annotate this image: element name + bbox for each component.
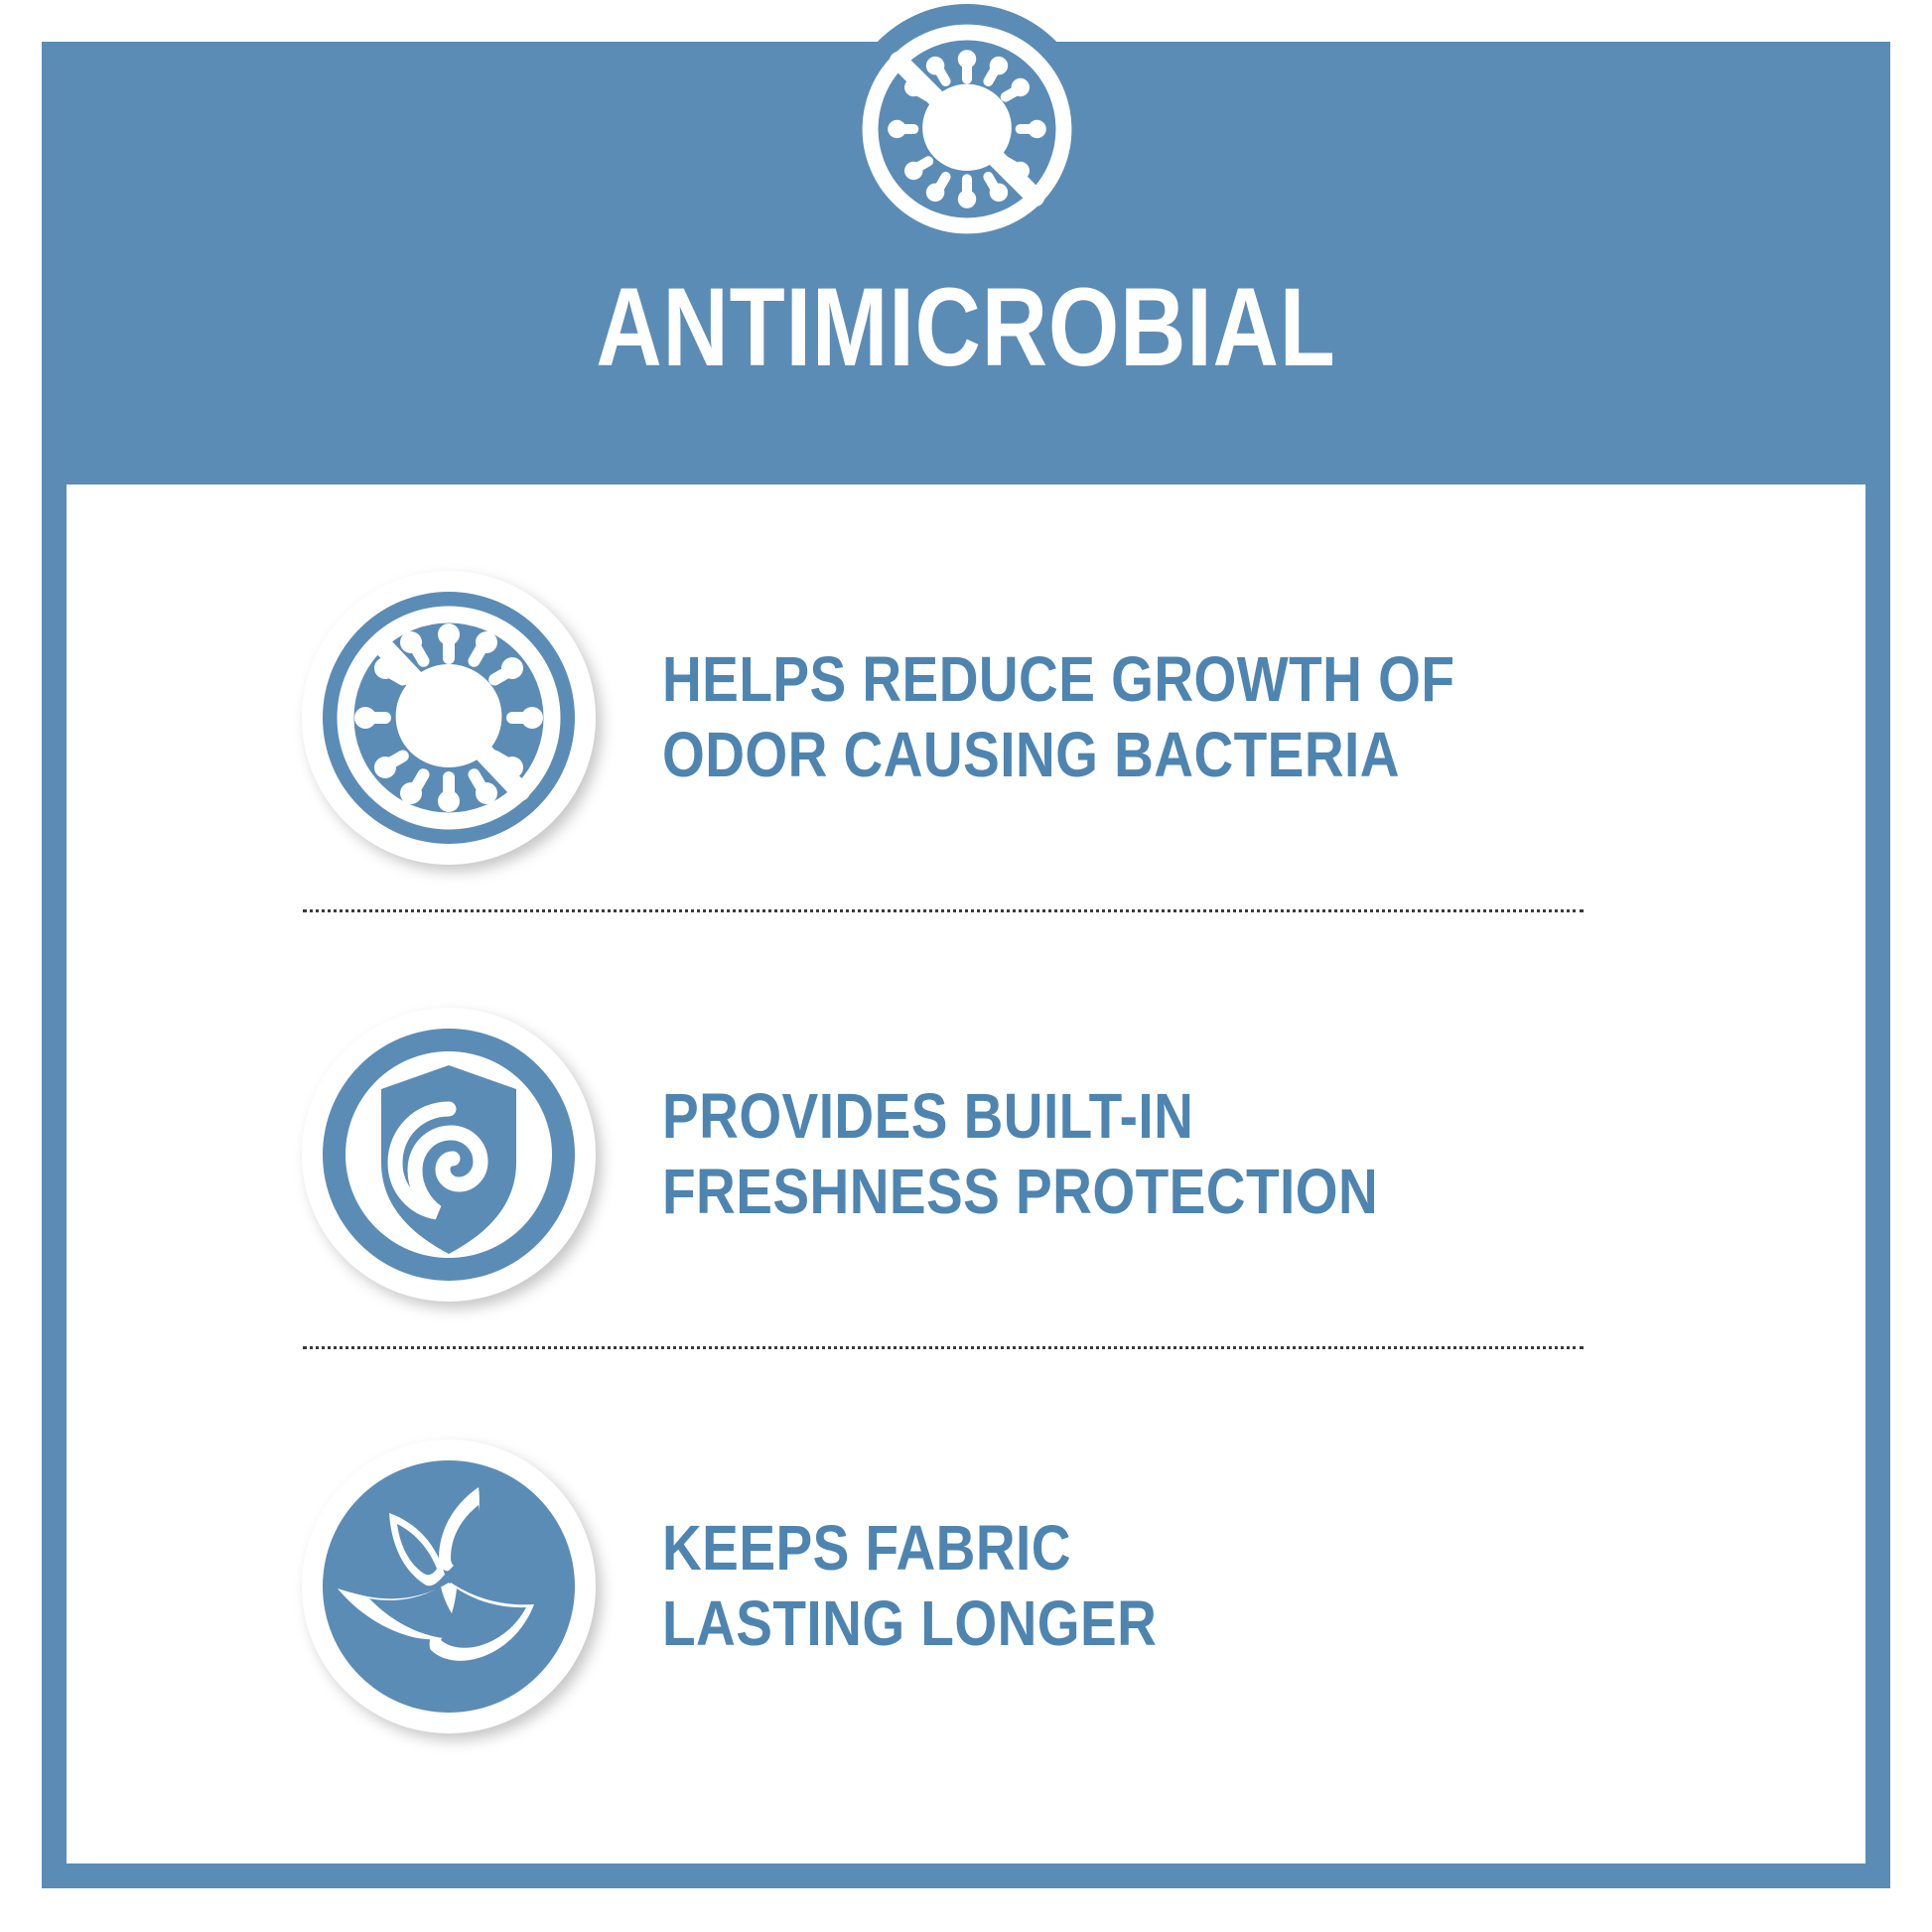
feature-row: HELPS REDUCE GROWTH OF ODOR CAUSING BACT… xyxy=(300,569,1620,867)
shield-swirl-icon xyxy=(300,1006,598,1304)
divider-line xyxy=(303,1346,1584,1349)
feature-text: PROVIDES BUILT-IN FRESHNESS PROTECTION xyxy=(662,1079,1378,1229)
feature-line-1: PROVIDES BUILT-IN xyxy=(662,1080,1193,1152)
feature-text: HELPS REDUCE GROWTH OF ODOR CAUSING BACT… xyxy=(662,642,1454,792)
feature-row: KEEPS FABRIC LASTING LONGER xyxy=(300,1438,1620,1735)
feature-line-1: HELPS REDUCE GROWTH OF xyxy=(662,643,1454,715)
feature-line-1: KEEPS FABRIC xyxy=(662,1512,1071,1584)
feature-text: KEEPS FABRIC LASTING LONGER xyxy=(662,1511,1157,1661)
feature-list: HELPS REDUCE GROWTH OF ODOR CAUSING BACT… xyxy=(67,484,1865,1863)
feature-line-2: FRESHNESS PROTECTION xyxy=(662,1155,1378,1230)
feature-line-2: ODOR CAUSING BACTERIA xyxy=(662,718,1454,793)
page-title: ANTIMICROBIAL xyxy=(208,272,1725,383)
leaf-plant-icon xyxy=(300,1438,598,1735)
virus-blocked-icon xyxy=(842,4,1092,254)
antimicrobial-infographic: HELPS REDUCE GROWTH OF ODOR CAUSING BACT… xyxy=(0,0,1932,1932)
divider-line xyxy=(303,909,1584,912)
feature-line-2: LASTING LONGER xyxy=(662,1587,1157,1662)
content-panel: HELPS REDUCE GROWTH OF ODOR CAUSING BACT… xyxy=(67,484,1865,1863)
feature-row: PROVIDES BUILT-IN FRESHNESS PROTECTION xyxy=(300,1006,1620,1304)
virus-blocked-icon xyxy=(300,569,598,867)
